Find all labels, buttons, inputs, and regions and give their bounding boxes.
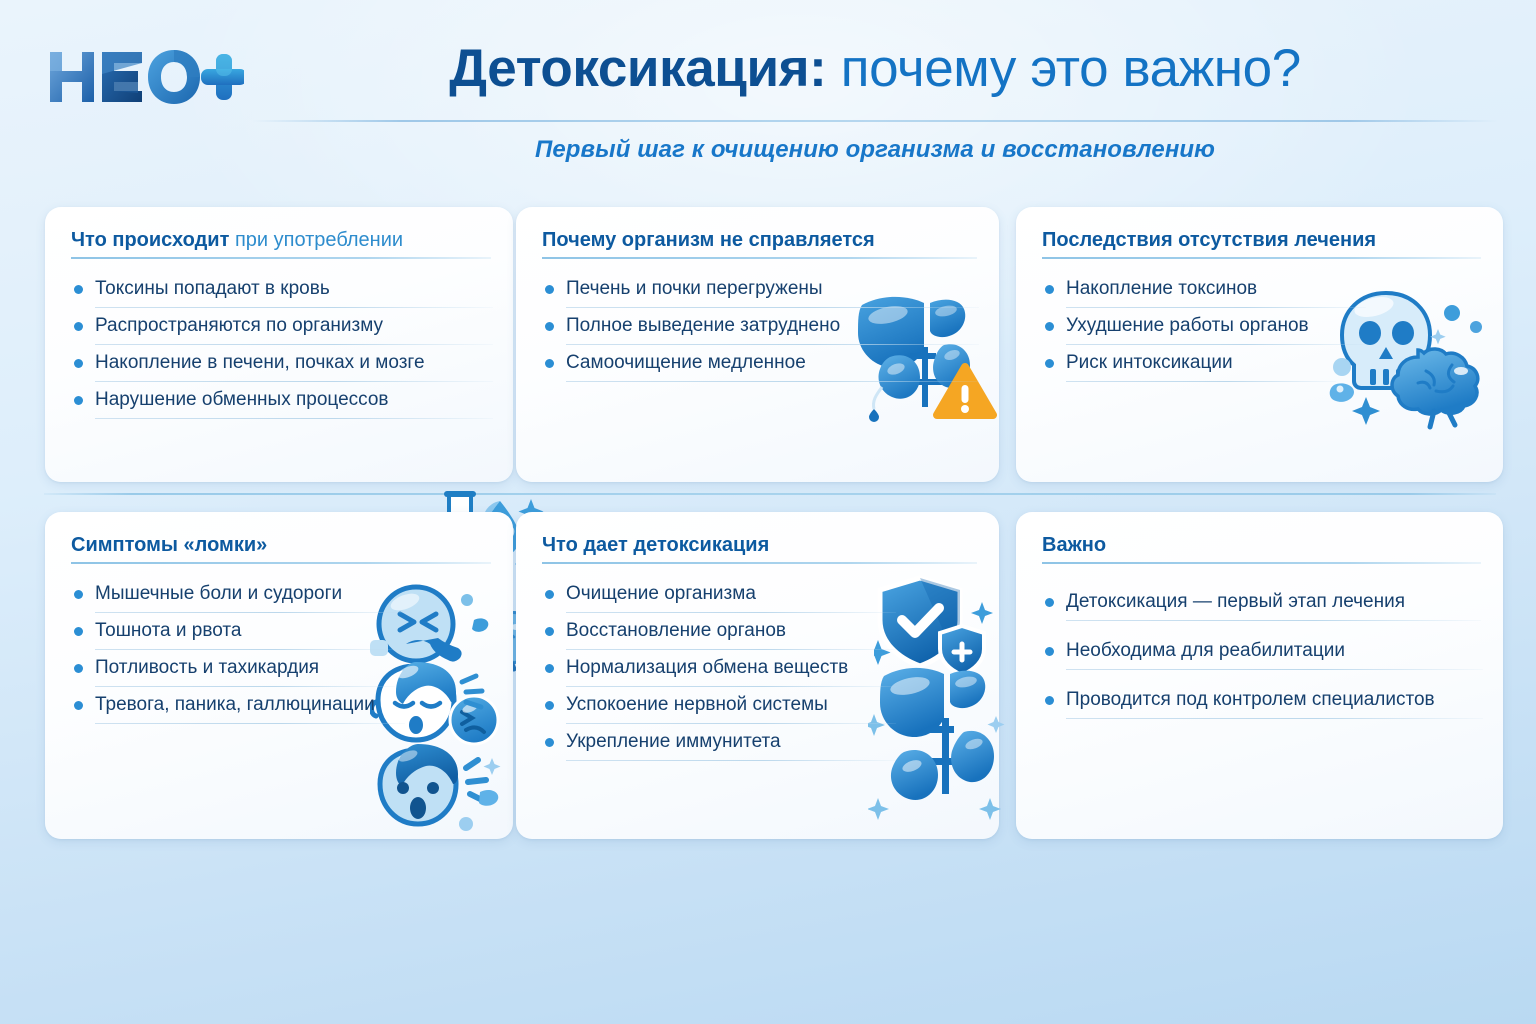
- card-title-divider: [71, 257, 491, 259]
- list-item: Детоксикация — первый этап лечения: [1042, 586, 1483, 621]
- bullet-icon: [545, 285, 554, 294]
- row-divider: [44, 493, 1496, 495]
- list-item: Нарушение обменных процессов: [71, 384, 493, 419]
- list-item: Проводится под контролем специалистов: [1042, 684, 1483, 719]
- list-item: Печень и почки перегружены: [542, 273, 979, 308]
- card-title-divider: [71, 562, 491, 564]
- card-title: Что происходит при употреблении: [71, 227, 491, 253]
- list-item-text: Накопление в печени, почках и мозге: [95, 347, 425, 379]
- item-underline: [566, 649, 896, 650]
- list-item-text: Токсины попадают в кровь: [95, 273, 330, 305]
- list-item-text: Нормализация обмена веществ: [566, 652, 848, 684]
- item-underline: [566, 760, 896, 761]
- bullet-icon: [1045, 359, 1054, 368]
- card-title: Симптомы «ломки»: [71, 532, 491, 558]
- card-item-list: Детоксикация — первый этап лечения Необх…: [1042, 586, 1483, 721]
- card-title-divider: [1042, 562, 1481, 564]
- list-item-text: Полное выведение затруднено: [566, 310, 840, 342]
- card-item-list: Печень и почки перегружены Полное выведе…: [542, 273, 979, 384]
- card-title-bold: Симптомы «ломки»: [71, 534, 267, 556]
- list-item: Тревога, паника, галлюцинации: [71, 689, 493, 724]
- list-item-text: Тревога, паника, галлюцинации: [95, 689, 375, 721]
- bullet-icon: [545, 359, 554, 368]
- bullet-icon: [74, 701, 83, 710]
- bullet-icon: [74, 664, 83, 673]
- bullet-icon: [545, 701, 554, 710]
- list-item: Нормализация обмена веществ: [542, 652, 979, 687]
- list-item: Восстановление органов: [542, 615, 979, 650]
- card-item-list: Очищение организма Восстановление органо…: [542, 578, 979, 763]
- item-underline: [566, 612, 896, 613]
- item-underline: [1066, 307, 1366, 308]
- list-item-text: Успокоение нервной системы: [566, 689, 828, 721]
- list-item: Токсины попадают в кровь: [71, 273, 493, 308]
- list-item: Тошнота и рвота: [71, 615, 493, 650]
- list-item-text: Проводится под контролем специалистов: [1066, 684, 1435, 716]
- item-underline: [566, 381, 979, 382]
- bullet-icon: [1045, 285, 1054, 294]
- bullet-icon: [74, 590, 83, 599]
- card-item-list: Накопление токсинов Ухудшение работы орг…: [1042, 273, 1483, 384]
- list-item-text: Ухудшение работы органов: [1066, 310, 1309, 342]
- bullet-icon: [74, 396, 83, 405]
- item-underline: [566, 686, 896, 687]
- item-underline: [566, 344, 979, 345]
- card-title: Почему организм не справляется: [542, 227, 977, 253]
- list-item-text: Распространяются по организму: [95, 310, 383, 342]
- item-underline: [95, 612, 405, 613]
- bullet-icon: [1045, 598, 1054, 607]
- item-underline: [95, 344, 493, 345]
- list-item-text: Самоочищение медленное: [566, 347, 806, 379]
- item-underline: [95, 307, 493, 308]
- list-item: Полное выведение затруднено: [542, 310, 979, 345]
- list-item: Очищение организма: [542, 578, 979, 613]
- item-underline: [1066, 669, 1483, 670]
- list-item-text: Детоксикация — первый этап лечения: [1066, 586, 1405, 618]
- item-underline: [1066, 344, 1366, 345]
- item-underline: [95, 418, 493, 419]
- list-item: Успокоение нервной системы: [542, 689, 979, 724]
- bullet-icon: [74, 285, 83, 294]
- list-item-text: Мышечные боли и судороги: [95, 578, 342, 610]
- card-title-divider: [1042, 257, 1481, 259]
- card-important[interactable]: Важно Детоксикация — первый этап лечения…: [1016, 512, 1503, 839]
- list-item: Накопление в печени, почках и мозге: [71, 347, 493, 382]
- list-item: Необходима для реабилитации: [1042, 635, 1483, 670]
- item-underline: [95, 723, 405, 724]
- card-item-list: Мышечные боли и судороги Тошнота и рвота…: [71, 578, 493, 726]
- list-item: Укрепление иммунитета: [542, 726, 979, 761]
- card-title-bold: Что происходит: [71, 229, 229, 251]
- list-item: Мышечные боли и судороги: [71, 578, 493, 613]
- bullet-icon: [545, 627, 554, 636]
- card-title: Важно: [1042, 532, 1481, 558]
- card-what-happens[interactable]: Что происходит при употреблении: [45, 207, 513, 482]
- list-item: Потливость и тахикардия: [71, 652, 493, 687]
- item-underline: [95, 686, 395, 687]
- list-item-text: Риск интоксикации: [1066, 347, 1233, 379]
- bullet-icon: [74, 322, 83, 331]
- bullet-icon: [545, 664, 554, 673]
- card-grid: Что происходит при употреблении: [0, 0, 1536, 1024]
- list-item-text: Восстановление органов: [566, 615, 786, 647]
- card-title-divider: [542, 562, 977, 564]
- card-title: Что дает детоксикация: [542, 532, 977, 558]
- bullet-icon: [74, 627, 83, 636]
- bullet-icon: [1045, 647, 1054, 656]
- card-withdrawal-symptoms[interactable]: Симптомы «ломки»: [45, 512, 513, 839]
- list-item-text: Тошнота и рвота: [95, 615, 241, 647]
- list-item: Ухудшение работы органов: [1042, 310, 1483, 345]
- card-title-bold: Почему организм не справляется: [542, 229, 875, 251]
- list-item: Накопление токсинов: [1042, 273, 1483, 308]
- card-title-divider: [542, 257, 977, 259]
- list-item-text: Печень и почки перегружены: [566, 273, 823, 305]
- card-title-bold: Важно: [1042, 534, 1106, 556]
- card-title-regular: при употреблении: [235, 229, 403, 251]
- list-item: Самоочищение медленное: [542, 347, 979, 382]
- card-title-bold: Что дает детоксикация: [542, 534, 769, 556]
- card-title-bold: Последствия отсутствия лечения: [1042, 229, 1376, 251]
- bullet-icon: [1045, 322, 1054, 331]
- bullet-icon: [545, 738, 554, 747]
- item-underline: [95, 381, 493, 382]
- list-item-text: Потливость и тахикардия: [95, 652, 319, 684]
- card-title: Последствия отсутствия лечения: [1042, 227, 1481, 253]
- shocked-face-icon: [370, 740, 505, 840]
- card-item-list: Токсины попадают в кровь Распространяютс…: [71, 273, 493, 421]
- item-underline: [1066, 620, 1481, 621]
- list-item-text: Накопление токсинов: [1066, 273, 1257, 305]
- bullet-icon: [545, 322, 554, 331]
- list-item-text: Нарушение обменных процессов: [95, 384, 389, 416]
- list-item: Риск интоксикации: [1042, 347, 1483, 382]
- list-item: Распространяются по организму: [71, 310, 493, 345]
- list-item-text: Укрепление иммунитета: [566, 726, 781, 758]
- list-item-text: Необходима для реабилитации: [1066, 635, 1345, 667]
- bullet-icon: [1045, 696, 1054, 705]
- item-underline: [566, 307, 979, 308]
- list-item-text: Очищение организма: [566, 578, 756, 610]
- item-underline: [1066, 381, 1336, 382]
- card-why-body-fails[interactable]: Почему организм не справляется: [516, 207, 999, 482]
- item-underline: [1066, 718, 1483, 719]
- card-detox-benefits[interactable]: Что дает детоксикация: [516, 512, 999, 839]
- item-underline: [566, 723, 896, 724]
- bullet-icon: [74, 359, 83, 368]
- bullet-icon: [545, 590, 554, 599]
- item-underline: [95, 649, 395, 650]
- card-consequences[interactable]: Последствия отсутствия лечения: [1016, 207, 1503, 482]
